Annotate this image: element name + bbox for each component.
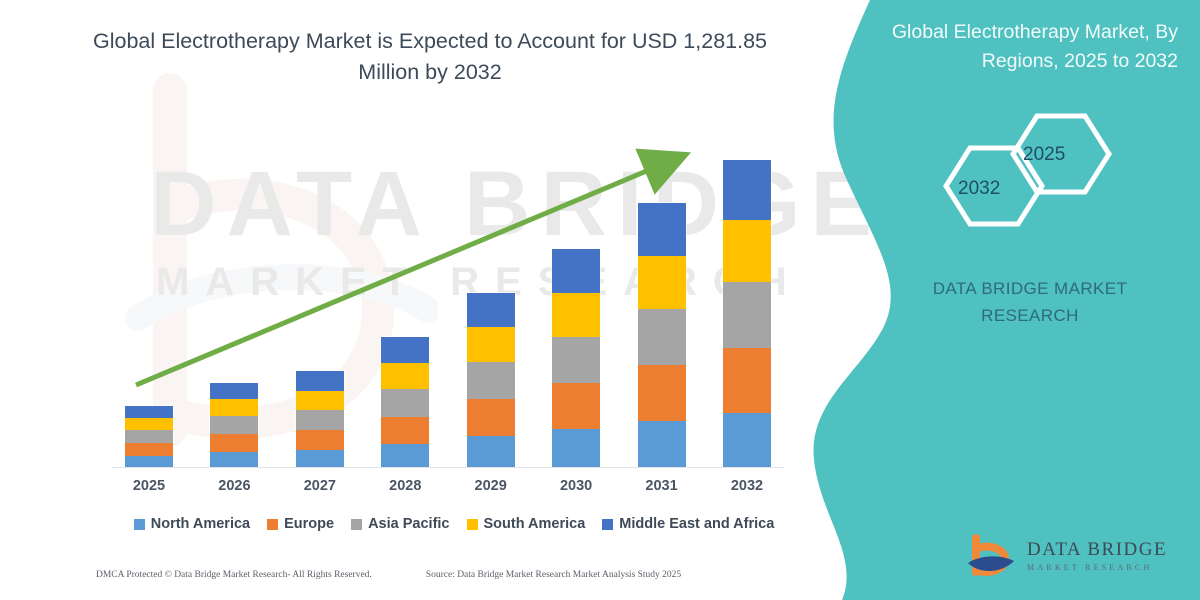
legend-label: Europe	[284, 516, 334, 532]
hex-year-2025: 2025	[1023, 144, 1065, 166]
logo-word-secondary: MARKET RESEARCH	[1027, 563, 1167, 572]
hexagon-year-badges: 2025 2032	[925, 108, 1125, 228]
legend-label: South America	[484, 516, 586, 532]
panel-title: Global Electrotherapy Market, By Regions…	[848, 18, 1178, 77]
legend-label: Asia Pacific	[368, 516, 449, 532]
databridge-b-mark-icon	[965, 532, 1017, 580]
footer: DMCA Protected © Data Bridge Market Rese…	[96, 570, 796, 580]
legend-item[interactable]: South America	[467, 516, 586, 532]
growth-trend-arrow-icon	[0, 0, 820, 600]
legend-swatch-icon	[267, 519, 278, 530]
panel-brand-line-2: RESEARCH	[880, 302, 1180, 329]
legend-swatch-icon	[467, 519, 478, 530]
infographic-canvas: DATA BRIDGE MARKET RESEARCH Global Elect…	[0, 0, 1200, 600]
chart-legend: North AmericaEuropeAsia PacificSouth Ame…	[118, 516, 790, 532]
panel-brand-text: DATA BRIDGE MARKET RESEARCH	[880, 275, 1180, 329]
hexagon-outline-icon	[925, 108, 1125, 228]
legend-label: North America	[151, 516, 250, 532]
x-axis-line	[112, 467, 784, 468]
dmca-notice: DMCA Protected © Data Bridge Market Rese…	[96, 570, 372, 580]
legend-swatch-icon	[351, 519, 362, 530]
source-note: Source: Data Bridge Market Research Mark…	[426, 570, 681, 580]
page-title: Global Electrotherapy Market is Expected…	[70, 26, 790, 88]
databridge-logo: DATA BRIDGE MARKET RESEARCH	[965, 530, 1180, 582]
legend-label: Middle East and Africa	[619, 516, 774, 532]
legend-item[interactable]: Middle East and Africa	[602, 516, 774, 532]
logo-word-primary: DATA BRIDGE	[1027, 540, 1167, 561]
panel-brand-line-1: DATA BRIDGE MARKET	[880, 275, 1180, 302]
legend-item[interactable]: Asia Pacific	[351, 516, 449, 532]
chart-area: 20252026202720282029203020312032 North A…	[0, 0, 820, 600]
hex-year-2032: 2032	[958, 178, 1000, 200]
legend-swatch-icon	[134, 519, 145, 530]
legend-swatch-icon	[602, 519, 613, 530]
databridge-logo-wordmark: DATA BRIDGE MARKET RESEARCH	[1027, 540, 1167, 573]
legend-item[interactable]: Europe	[267, 516, 334, 532]
legend-item[interactable]: North America	[134, 516, 250, 532]
